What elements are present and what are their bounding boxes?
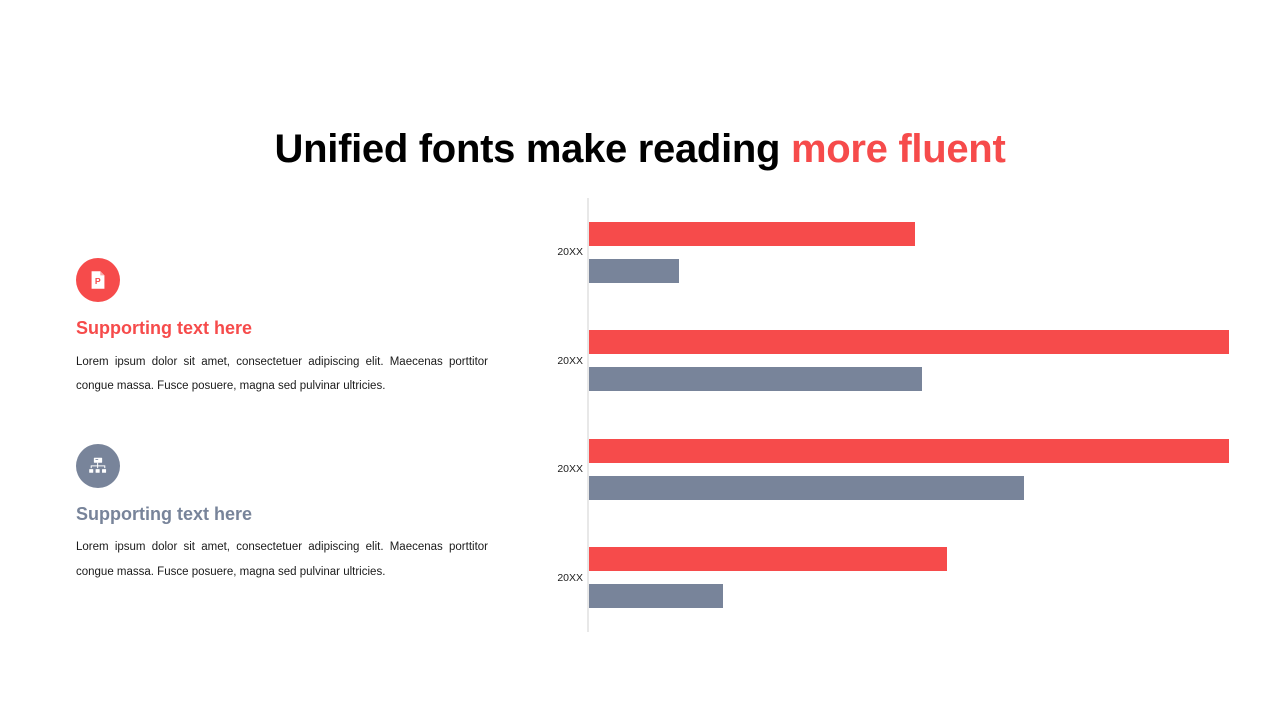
feature-list: P Supporting text here Lorem ipsum dolor…: [76, 258, 496, 584]
org-chart-icon: [76, 444, 120, 488]
feature-block: P Supporting text here Lorem ipsum dolor…: [76, 258, 496, 398]
bar-series-2: [589, 584, 723, 608]
bar-group-label: 20XX: [538, 247, 583, 258]
bar-pair: [589, 438, 1229, 500]
document-p-icon: P: [76, 258, 120, 302]
bar-series-1: [589, 439, 1229, 463]
bar-group: 20XX: [538, 221, 1238, 283]
bar-pair: [589, 221, 1229, 283]
bar-group-label: 20XX: [538, 573, 583, 584]
page-title: Unified fonts make reading more fluent: [0, 126, 1280, 172]
svg-text:P: P: [95, 276, 101, 286]
bar-series-2: [589, 259, 679, 283]
feature-heading: Supporting text here: [76, 318, 496, 340]
feature-body: Lorem ipsum dolor sit amet, consectetuer…: [76, 535, 488, 583]
page-title-accent: more fluent: [791, 127, 1006, 171]
bar-group-label: 20XX: [538, 464, 583, 475]
feature-heading: Supporting text here: [76, 504, 496, 526]
feature-body: Lorem ipsum dolor sit amet, consectetuer…: [76, 350, 488, 398]
bar-chart: 20XX 20XX 20XX 20XX: [538, 198, 1238, 632]
bar-group: 20XX: [538, 330, 1238, 392]
feature-block: Supporting text here Lorem ipsum dolor s…: [76, 444, 496, 584]
bar-group: 20XX: [538, 438, 1238, 500]
bar-series-1: [589, 330, 1229, 354]
bar-group: 20XX: [538, 547, 1238, 609]
bar-series-1: [589, 547, 947, 571]
bar-series-2: [589, 476, 1024, 500]
page-title-main: Unified fonts make reading: [275, 127, 791, 171]
bar-series-1: [589, 222, 915, 246]
chart-bar-groups: 20XX 20XX 20XX 20XX: [538, 198, 1238, 632]
bar-pair: [589, 330, 1229, 392]
bar-pair: [589, 547, 1229, 609]
bar-series-2: [589, 367, 922, 391]
bar-group-label: 20XX: [538, 356, 583, 367]
